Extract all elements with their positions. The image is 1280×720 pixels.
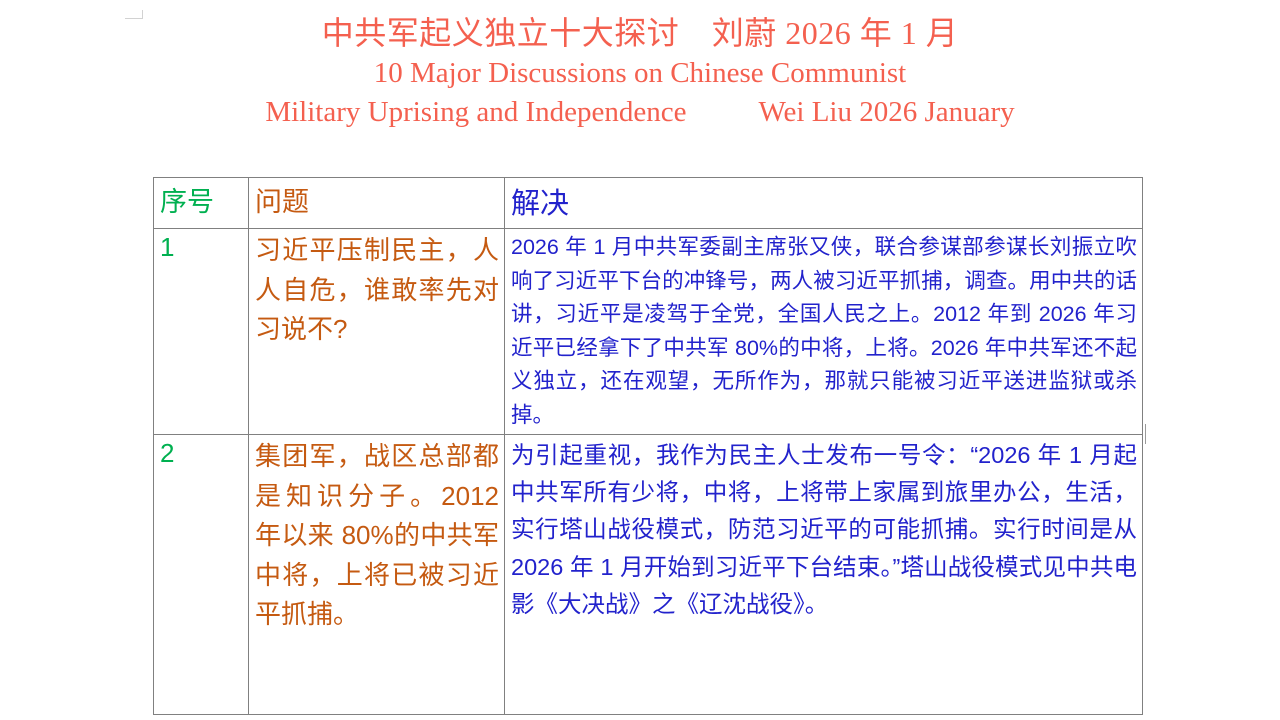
row-problem-text: 习近平压制民主，人人自危，谁敢率先对习说不?: [249, 229, 505, 435]
column-header-solution: 解决: [505, 178, 1143, 229]
table-edge-artifact: [1145, 424, 1146, 444]
column-header-serial: 序号: [154, 178, 249, 229]
discussion-table: 序号 问题 解决 1 习近平压制民主，人人自危，谁敢率先对习说不? 2026 年…: [153, 177, 1143, 715]
column-header-problem: 问题: [249, 178, 505, 229]
row-solution-text: 为引起重视，我作为民主人士发布一号令：“2026 年 1 月起中共军所有少将，中…: [505, 435, 1143, 715]
row-problem-text: 集团军，战区总部都是知识分子。2012 年以来 80%的中共军中将，上将已被习近…: [249, 435, 505, 715]
title-english-line-2: Military Uprising and Independence Wei L…: [0, 93, 1280, 131]
table-header-row: 序号 问题 解决: [154, 178, 1143, 229]
title-chinese: 中共军起义独立十大探讨 刘蔚 2026 年 1 月: [0, 12, 1280, 54]
table-row: 1 习近平压制民主，人人自危，谁敢率先对习说不? 2026 年 1 月中共军委副…: [154, 229, 1143, 435]
row-solution-text: 2026 年 1 月中共军委副主席张又侠，联合参谋部参谋长刘振立吹响了习近平下台…: [505, 229, 1143, 435]
row-serial-number: 2: [154, 435, 249, 715]
row-serial-number: 1: [154, 229, 249, 435]
slide-title-block: 中共军起义独立十大探讨 刘蔚 2026 年 1 月 10 Major Discu…: [0, 12, 1280, 131]
table-row: 2 集团军，战区总部都是知识分子。2012 年以来 80%的中共军中将，上将已被…: [154, 435, 1143, 715]
title-english-line-1: 10 Major Discussions on Chinese Communis…: [0, 54, 1280, 92]
